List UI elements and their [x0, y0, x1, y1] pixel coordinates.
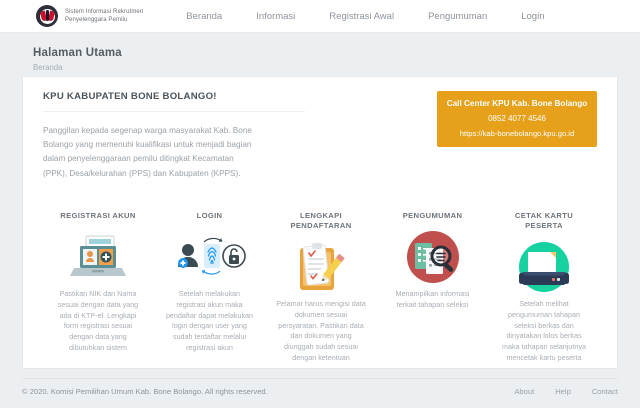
nav-item-registrasi-awal[interactable]: Registrasi Awal — [329, 11, 394, 22]
card-top-section: KPU KABUPATEN BONE BOLANGO! Panggilan ke… — [23, 77, 617, 181]
feature-desc: Setelah melihat pengumuman tahapan selek… — [495, 299, 593, 364]
feature-desc: Pastikan NIK dan Nama sesuai dengan data… — [49, 289, 147, 354]
fingerprint-padlock-login-icon — [161, 228, 259, 286]
document-magnifier-icon — [384, 228, 482, 286]
nav-item-pengumuman[interactable]: Pengumuman — [428, 11, 487, 22]
feature-title: CETAK KARTU PESERTA — [495, 211, 593, 231]
call-center-title: Call Center KPU Kab. Bone Bolango — [443, 99, 591, 108]
page-title: Halaman Utama — [33, 47, 640, 59]
laptop-registration-icon — [49, 228, 147, 286]
divider — [43, 111, 305, 112]
nav-links: Beranda Informasi Registrasi Awal Pengum… — [186, 11, 544, 22]
feature-title: PENGUMUMAN — [384, 211, 482, 221]
call-center-url[interactable]: https://kab-bonebolango.kpu.go.id — [443, 129, 591, 138]
feature-title: LOGIN — [161, 211, 259, 221]
call-center-phone[interactable]: 0852 4077 4546 — [443, 114, 591, 123]
feature-desc: Setelah melakukan registrasi akun maka p… — [161, 289, 259, 354]
feature-login[interactable]: LOGIN — [161, 211, 259, 364]
feature-lengkapi-pendaftaran[interactable]: LENGKAPI PENDAFTARAN — [272, 211, 370, 364]
feature-cetak-kartu-peserta[interactable]: CETAK KARTU PESERTA Setelah melihat — [495, 211, 593, 364]
top-navbar: Sistem Informasi Rekrutmen Penyelenggara… — [0, 0, 640, 33]
brand[interactable]: Sistem Informasi Rekrutmen Penyelenggara… — [36, 5, 143, 27]
footer-links: About Help Contact — [493, 387, 618, 396]
page-root: Sistem Informasi Rekrutmen Penyelenggara… — [0, 0, 640, 408]
nav-item-informasi[interactable]: Informasi — [256, 11, 295, 22]
page-header: Halaman Utama Beranda — [0, 33, 640, 72]
feature-list: REGISTRASI AKUN — [23, 211, 619, 364]
feature-desc: Pelamar harus mengisi data dokumen sesua… — [272, 299, 370, 364]
footer-link-help[interactable]: Help — [555, 387, 571, 396]
printer-icon — [495, 238, 593, 296]
call-center-box: Call Center KPU Kab. Bone Bolango 0852 4… — [437, 91, 597, 147]
feature-pengumuman[interactable]: PENGUMUMAN — [384, 211, 482, 364]
nav-item-login[interactable]: Login — [521, 11, 544, 22]
intro-block: KPU KABUPATEN BONE BOLANGO! Panggilan ke… — [43, 91, 343, 181]
intro-body: Panggilan kepada segenap warga masyaraka… — [43, 124, 258, 181]
footer-link-contact[interactable]: Contact — [592, 387, 618, 396]
footer-link-about[interactable]: About — [514, 387, 534, 396]
copyright-text: © 2020. Komisi Pemilihan Umum Kab. Bone … — [22, 387, 268, 396]
kpu-logo-icon — [36, 5, 58, 27]
breadcrumb[interactable]: Beranda — [33, 63, 640, 72]
feature-title: REGISTRASI AKUN — [49, 211, 147, 221]
nav-item-beranda[interactable]: Beranda — [186, 11, 222, 22]
brand-text: Sistem Informasi Rekrutmen Penyelenggara… — [65, 8, 143, 24]
footer: © 2020. Komisi Pemilihan Umum Kab. Bone … — [22, 378, 618, 396]
clipboard-pencil-icon — [272, 238, 370, 296]
intro-title: KPU KABUPATEN BONE BOLANGO! — [43, 91, 343, 111]
feature-title: LENGKAPI PENDAFTARAN — [272, 211, 370, 231]
feature-desc: Menampilkan informasi terkait tahapan se… — [384, 289, 482, 311]
main-card: KPU KABUPATEN BONE BOLANGO! Panggilan ke… — [22, 76, 618, 369]
feature-registrasi-akun[interactable]: REGISTRASI AKUN — [49, 211, 147, 364]
